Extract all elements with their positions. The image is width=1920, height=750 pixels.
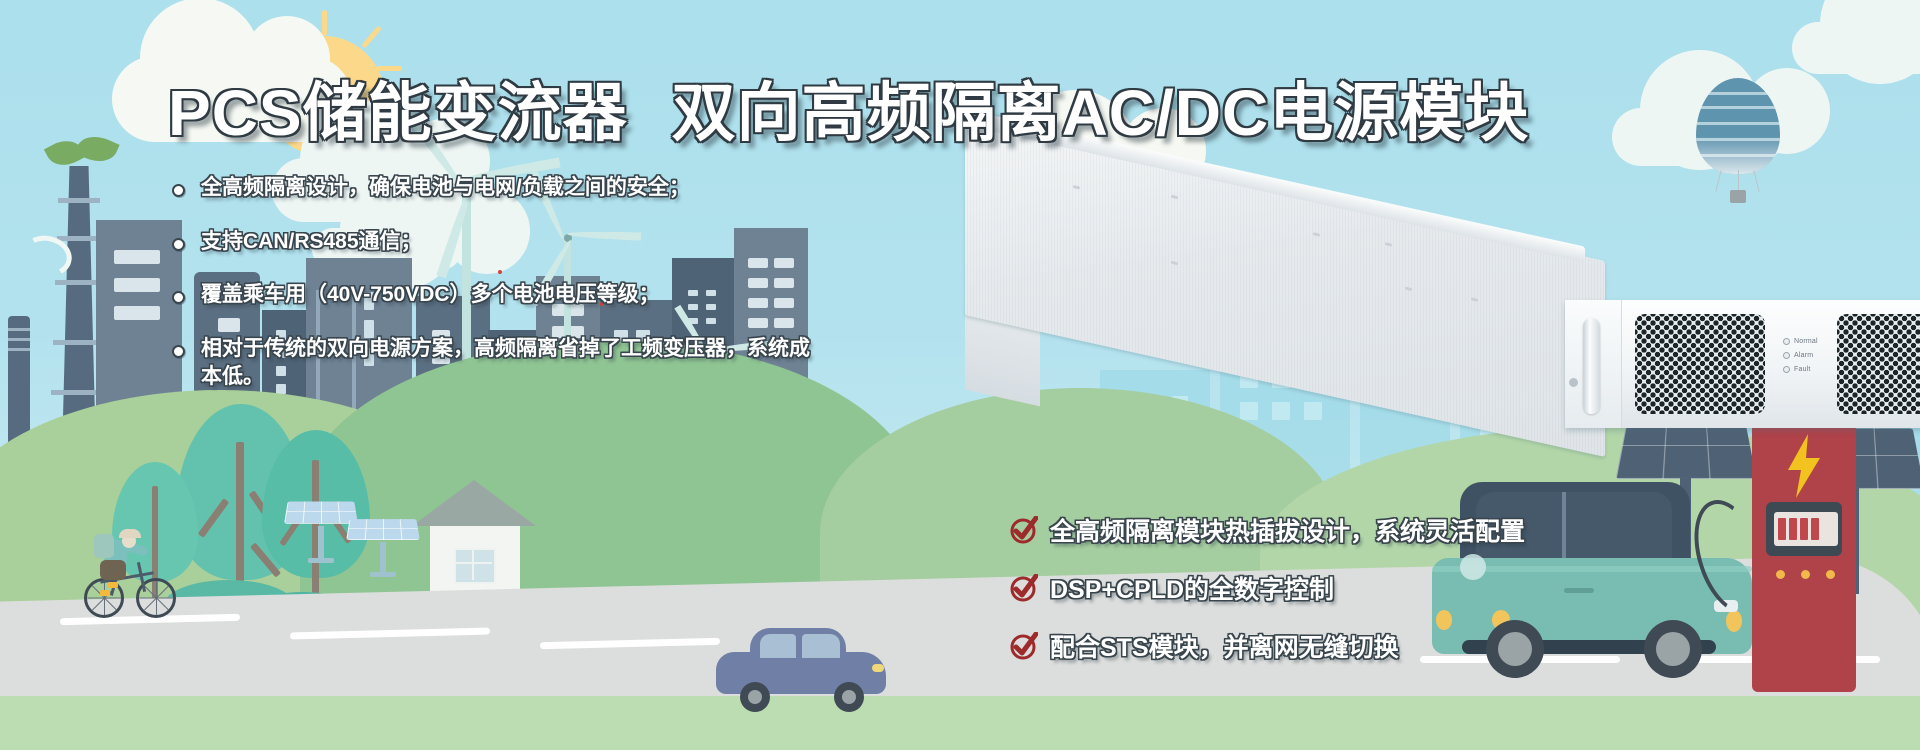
car-small [716,622,886,708]
check-label: 配合STS模块，并离网无缝切换 [1050,628,1399,664]
feature-bullet-list: 全高频隔离设计，确保电池与电网/负载之间的安全； 支持CAN/RS485通信； … [172,174,872,417]
bullet-dot-icon [172,184,185,197]
ev-charger [1740,420,1880,700]
device-vent-left [1635,314,1765,414]
cloud-icon [1792,22,1920,74]
hot-air-balloon-icon [1690,78,1790,238]
solar-panel-surface [284,501,358,523]
list-item: 相对于传统的双向电源方案，高频隔离省掉了工频变压器，系统成本低。 [172,335,872,390]
led-normal-label: Normal [1794,338,1818,345]
led-alarm-icon [1783,352,1790,359]
page-title: PCS储能变流器双向高频隔离AC/DC电源模块 [168,62,1529,154]
device-screw [1569,378,1578,387]
bullet-label: 覆盖乘车用（40V-750VDC）多个电池电压等级； [201,281,660,309]
title-part-1: PCS储能变流器 [168,77,628,149]
led-normal-icon [1783,338,1790,345]
list-item: 配合STS模块，并离网无缝切换 [1010,628,1525,664]
check-label: 全高频隔离模块热插拔设计，系统灵活配置 [1050,512,1525,548]
promo-banner: Normal Alarm Fault PCS储能变流器双向高频隔离AC/DC电源… [0,0,1920,750]
list-item: 全高频隔离模块热插拔设计，系统灵活配置 [1010,512,1525,548]
device-vent-right [1837,314,1920,414]
battery-icon [1774,512,1838,546]
balloon-basket [1730,190,1746,203]
device-handle [1583,318,1600,414]
led-fault-icon [1783,366,1790,373]
check-feature-list: 全高频隔离模块热插拔设计，系统灵活配置 DSP+CPLD的全数字控制 配合STS… [1010,512,1525,686]
led-indicator-group: Normal [1783,338,1818,345]
led-alarm-label: Alarm [1794,352,1813,359]
cyclist [78,520,188,630]
device-front-panel: Normal Alarm Fault [1565,300,1920,428]
balloon-envelope [1696,78,1780,174]
bullet-label: 全高频隔离设计，确保电池与电网/负载之间的安全； [201,174,690,202]
led-fault-label: Fault [1794,366,1811,373]
charger-indicator [1826,570,1835,579]
charger-indicator [1801,570,1810,579]
check-label: DSP+CPLD的全数字控制 [1050,570,1334,606]
solar-panel [348,514,418,584]
check-circle-icon [1010,516,1038,544]
solar-panel-post [318,526,324,562]
list-item: 覆盖乘车用（40V-750VDC）多个电池电压等级； [172,281,872,309]
house-window [454,548,496,584]
grass-foreground [0,696,1920,750]
bicycle-wheel [84,578,124,618]
title-part-2: 双向高频隔离AC/DC电源模块 [672,77,1530,149]
check-circle-icon [1010,574,1038,602]
solar-panel [286,496,356,566]
leaf-icon [74,129,119,168]
house-roof [412,480,536,526]
bullet-dot-icon [172,238,185,251]
charger-indicator [1776,570,1785,579]
device-top-panel [965,119,1605,457]
check-circle-icon [1010,632,1038,660]
list-item: 全高频隔离设计，确保电池与电网/负载之间的安全； [172,174,872,202]
solar-panel-surface [346,519,420,540]
solar-panel-post [380,542,386,576]
product-image-pcs-module: Normal Alarm Fault [965,168,1685,418]
lightning-bolt-icon [1786,434,1822,498]
bullet-label: 相对于传统的双向电源方案，高频隔离省掉了工频变压器，系统成本低。 [201,335,811,390]
list-item: 支持CAN/RS485通信； [172,228,872,256]
bullet-dot-icon [172,345,185,358]
list-item: DSP+CPLD的全数字控制 [1010,570,1525,606]
bullet-label: 支持CAN/RS485通信； [201,228,422,256]
bullet-dot-icon [172,291,185,304]
